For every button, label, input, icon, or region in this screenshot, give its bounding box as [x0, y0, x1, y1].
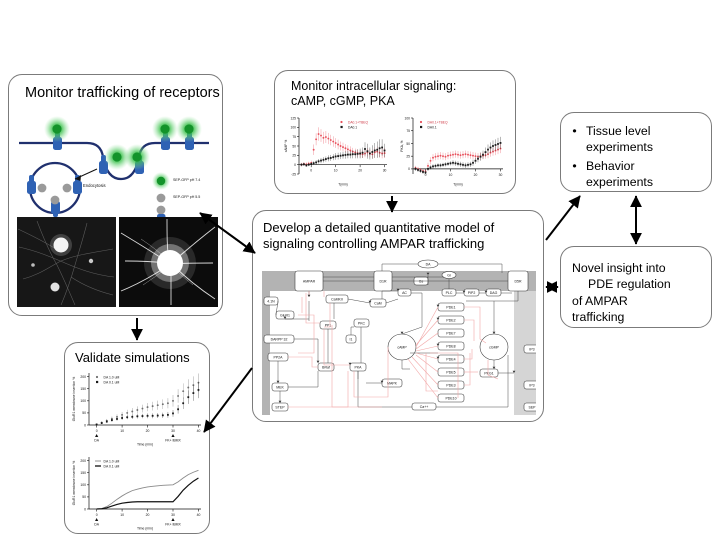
node-ampar: AMPAR	[295, 271, 323, 291]
svg-text:STEP: STEP	[275, 406, 285, 410]
svg-text:50: 50	[292, 144, 296, 148]
svg-text:Time (min): Time (min)	[137, 443, 153, 447]
validate-simulation-chart: 050100150200010203040Time (min)GluR1 mem…	[71, 453, 207, 531]
svg-text:IP3: IP3	[529, 384, 534, 388]
insight-line2: PDE regulation	[572, 276, 704, 292]
svg-text:DA: DA	[94, 523, 99, 527]
svg-text:20: 20	[358, 169, 362, 173]
svg-text:MAPK: MAPK	[387, 382, 398, 386]
tissue-bullet-0-line1: Tissue level	[586, 124, 650, 138]
svg-text:PKA: PKA	[354, 366, 362, 370]
node-pkc: PKC	[354, 319, 369, 327]
svg-text:-25: -25	[291, 172, 296, 176]
svg-text:DA: DA	[426, 263, 432, 267]
svg-text:PDE4: PDE4	[446, 358, 455, 362]
svg-text:200: 200	[80, 375, 86, 379]
svg-text:IP3: IP3	[529, 348, 534, 352]
neuron-field-image	[17, 217, 116, 307]
svg-text:DAG: DAG	[490, 291, 498, 295]
node-camkii: CaMKII	[326, 295, 348, 303]
svg-text:40: 40	[197, 429, 201, 433]
svg-text:20: 20	[474, 173, 478, 177]
svg-text:GluR1 membrane insertion %: GluR1 membrane insertion %	[72, 377, 76, 421]
svg-text:DA0.1+TBEQ: DA0.1+TBEQ	[348, 121, 369, 125]
svg-text:Ca++: Ca++	[420, 405, 429, 409]
svg-text:100: 100	[290, 126, 296, 130]
svg-text:DA: DA	[94, 439, 99, 443]
node-ip3: IP3	[524, 381, 536, 389]
tissue-bullet-list: • Tissue level experiments • Behavior ex…	[571, 123, 653, 192]
panel-monitor-trafficking: Monitor trafficking of receptors	[8, 74, 223, 316]
signaling-title-line2: cAMP, cGMP, PKA	[291, 94, 456, 109]
svg-text:0: 0	[408, 167, 410, 171]
svg-text:PDE1: PDE1	[446, 306, 455, 310]
svg-text:cAMP %: cAMP %	[284, 140, 288, 153]
svg-text:DA 0.1 uM: DA 0.1 uM	[104, 381, 120, 385]
insight-text: Novel insight into PDE regulation of AMP…	[572, 260, 704, 326]
node-pka: PKA	[350, 363, 366, 371]
svg-text:PDE10: PDE10	[445, 397, 456, 401]
signaling-title-line1: Monitor intracellular signaling:	[291, 79, 456, 94]
svg-text:FK+ IBMX: FK+ IBMX	[165, 439, 181, 443]
list-item: • Tissue level experiments	[571, 123, 653, 156]
tissue-bullet-1-text: Behavior experiments	[586, 158, 653, 191]
svg-text:200: 200	[80, 459, 86, 463]
node-pde2: PDE2	[438, 316, 464, 324]
svg-text:PIP2: PIP2	[468, 291, 476, 295]
svg-text:10: 10	[449, 173, 453, 177]
bullet-icon: •	[571, 123, 578, 156]
svg-text:150: 150	[80, 471, 86, 475]
svg-text:MEK: MEK	[276, 386, 284, 390]
tissue-bullet-1-line1: Behavior	[586, 159, 635, 173]
svg-text:I1: I1	[350, 338, 353, 342]
node-mapk: MAPK	[382, 379, 402, 387]
node-pde3: PDE3	[438, 381, 464, 389]
svg-text:GluR1 membrane insertion %: GluR1 membrane insertion %	[72, 461, 76, 505]
svg-text:DARPP 32: DARPP 32	[271, 338, 288, 342]
node-pp2a: PP2A	[268, 353, 288, 361]
svg-text:DA 0.1 uM: DA 0.1 uM	[104, 465, 120, 469]
node-4-1n: 4.1N	[264, 297, 278, 305]
svg-text:20: 20	[146, 429, 150, 433]
legend-label-sep-gfp-ph55: SEP-GFP pH 5.5	[173, 195, 200, 199]
svg-text:PDE8: PDE8	[446, 345, 455, 349]
node-pde8: PDE8	[438, 342, 464, 350]
svg-text:D1R: D1R	[379, 280, 386, 284]
svg-text:20: 20	[146, 513, 150, 517]
node-braf: BRaf	[318, 363, 334, 371]
svg-text:T(min): T(min)	[338, 183, 348, 187]
svg-text:SEP: SEP	[528, 406, 536, 410]
svg-text:4.1N: 4.1N	[267, 300, 275, 304]
svg-text:10: 10	[334, 169, 338, 173]
node-mek: MEK	[272, 383, 288, 391]
node-i1: I1	[346, 335, 356, 343]
svg-text:DA 1.0 uM: DA 1.0 uM	[104, 460, 120, 464]
svg-text:100: 100	[404, 116, 410, 120]
model-title: Develop a detailed quantitative model of…	[263, 220, 494, 251]
trafficking-title: Monitor trafficking of receptors	[25, 85, 220, 102]
legend-label-sep-gfp-ph74: SEP-GFP pH 7.4	[173, 178, 200, 182]
node-pkg1: PKG1	[480, 369, 498, 377]
panel-monitor-signaling: Monitor intracellular signaling: cAMP, c…	[274, 70, 516, 194]
node-step: STEP	[272, 403, 288, 411]
arrow-model-to-validate	[204, 368, 252, 432]
endocytosis-label: Endocytosis	[83, 183, 106, 188]
svg-text:30: 30	[171, 513, 175, 517]
insight-line3: of AMPAR	[572, 293, 704, 309]
svg-text:AMPAR: AMPAR	[303, 280, 316, 284]
svg-text:T(min): T(min)	[453, 183, 463, 187]
svg-text:PKA, %: PKA, %	[400, 140, 404, 151]
node-plc: PLC	[442, 289, 456, 296]
signaling-title: Monitor intracellular signaling: cAMP, c…	[291, 79, 456, 109]
node-camp: cAMP	[388, 334, 416, 360]
svg-text:50: 50	[82, 411, 86, 415]
tissue-bullet-0-text: Tissue level experiments	[586, 123, 653, 156]
svg-text:0: 0	[84, 423, 86, 427]
insight-line4: trafficking	[572, 309, 704, 325]
node-pp1: PP1	[320, 321, 336, 329]
node-darpp-32: DARPP 32	[264, 335, 294, 343]
svg-text:Time (min): Time (min)	[137, 527, 153, 531]
tissue-bullet-0-line2: experiments	[586, 140, 653, 154]
svg-text:100: 100	[80, 399, 86, 403]
model-title-line2: signaling controlling AMPAR trafficking	[263, 236, 494, 252]
panel-novel-insight: Novel insight into PDE regulation of AMP…	[560, 246, 712, 328]
svg-text:PLC: PLC	[446, 291, 453, 295]
node-pip2: PIP2	[464, 289, 479, 296]
bullet-icon: •	[571, 158, 578, 191]
node-gi: Gi	[442, 272, 456, 279]
node-ip3: IP3	[524, 345, 536, 353]
svg-text:CaM: CaM	[374, 302, 381, 306]
validate-title: Validate simulations	[75, 350, 190, 365]
node-ac: AC	[398, 289, 411, 296]
svg-text:125: 125	[290, 116, 296, 120]
svg-text:Gs: Gs	[419, 280, 424, 284]
node-ca-: Ca++	[412, 403, 436, 410]
svg-text:DA0.1+TBEQ: DA0.1+TBEQ	[428, 121, 449, 125]
node-pde4: PDE4	[438, 355, 464, 363]
tissue-bullet-1-line2: experiments	[586, 175, 653, 189]
svg-text:FK+ IBMX: FK+ IBMX	[165, 523, 181, 527]
svg-text:10: 10	[120, 429, 124, 433]
svg-text:PKC: PKC	[358, 322, 366, 326]
panel-tissue-behavior: • Tissue level experiments • Behavior ex…	[560, 112, 712, 192]
node-pde1: PDE1	[438, 303, 464, 311]
svg-text:PDE2: PDE2	[446, 319, 455, 323]
svg-text:0: 0	[96, 513, 98, 517]
panel-validate-simulations: Validate simulations 0501001502000102030…	[64, 342, 210, 534]
svg-text:50: 50	[406, 142, 410, 146]
svg-text:0: 0	[84, 507, 86, 511]
node-cgmp: cGMP	[480, 334, 508, 360]
svg-text:PP2A: PP2A	[274, 356, 284, 360]
svg-text:PDE3: PDE3	[446, 384, 455, 388]
svg-text:50: 50	[82, 495, 86, 499]
svg-text:30: 30	[499, 173, 503, 177]
node-d1r: D1R	[374, 271, 392, 291]
svg-text:25: 25	[406, 154, 410, 158]
pka-chart: 02550751000102030T(min)PKA, %DA0.1+TBEQD…	[399, 115, 507, 187]
svg-text:DA0.1: DA0.1	[348, 126, 357, 130]
svg-text:25: 25	[292, 154, 296, 158]
svg-text:0: 0	[310, 169, 312, 173]
validate-experiment-chart: 050100150200010203040Time (min)GluR1 mem…	[71, 369, 207, 447]
svg-text:150: 150	[80, 387, 86, 391]
model-title-line1: Develop a detailed quantitative model of	[263, 220, 494, 236]
arrow-model-to-tissue	[546, 196, 580, 240]
svg-text:BRaf: BRaf	[322, 366, 330, 370]
svg-text:40: 40	[197, 513, 201, 517]
svg-text:DA 1.0 uM: DA 1.0 uM	[104, 376, 120, 380]
insight-line1: Novel insight into	[572, 260, 704, 276]
svg-text:DA0.1: DA0.1	[428, 126, 437, 130]
svg-text:75: 75	[292, 135, 296, 139]
node-dag: DAG	[486, 289, 501, 296]
svg-text:0: 0	[96, 429, 98, 433]
camp-chart: -2502550751001250102030T(min)cAMP %DA0.1…	[283, 115, 391, 187]
node-pde10: PDE10	[438, 394, 464, 402]
node-pde5: PDE5	[438, 368, 464, 376]
svg-text:CaMKII: CaMKII	[331, 298, 343, 302]
svg-text:30: 30	[383, 169, 387, 173]
svg-text:Gi: Gi	[447, 274, 451, 278]
svg-text:cAMP: cAMP	[397, 346, 407, 350]
panel-quantitative-model: Develop a detailed quantitative model of…	[252, 210, 544, 422]
svg-text:cGMP: cGMP	[489, 346, 499, 350]
svg-text:0: 0	[294, 163, 296, 167]
svg-text:75: 75	[406, 129, 410, 133]
trafficking-schematic: Endocytosis SEP-GFP pH 7.4 SEP-GFP pH 5.…	[9, 105, 224, 230]
node-sep: SEP	[524, 403, 536, 411]
svg-text:PKG1: PKG1	[484, 372, 493, 376]
node-da: DA	[418, 260, 438, 268]
svg-text:30: 30	[171, 429, 175, 433]
node-cam: CaM	[370, 299, 386, 307]
svg-text:10: 10	[120, 513, 124, 517]
neuron-bright-image	[119, 217, 218, 307]
svg-text:PDE7: PDE7	[446, 332, 455, 336]
list-item: • Behavior experiments	[571, 158, 653, 191]
svg-text:100: 100	[80, 483, 86, 487]
svg-text:AC: AC	[402, 291, 407, 295]
signaling-network-diagram: DAAMPARD1RD5RGiGsACPLCPIP2DAG4.1NGluR1Ca…	[262, 257, 536, 415]
svg-text:PDE5: PDE5	[446, 371, 455, 375]
svg-text:D5R: D5R	[514, 280, 521, 284]
node-d5r: D5R	[508, 271, 528, 291]
node-pde7: PDE7	[438, 329, 464, 337]
